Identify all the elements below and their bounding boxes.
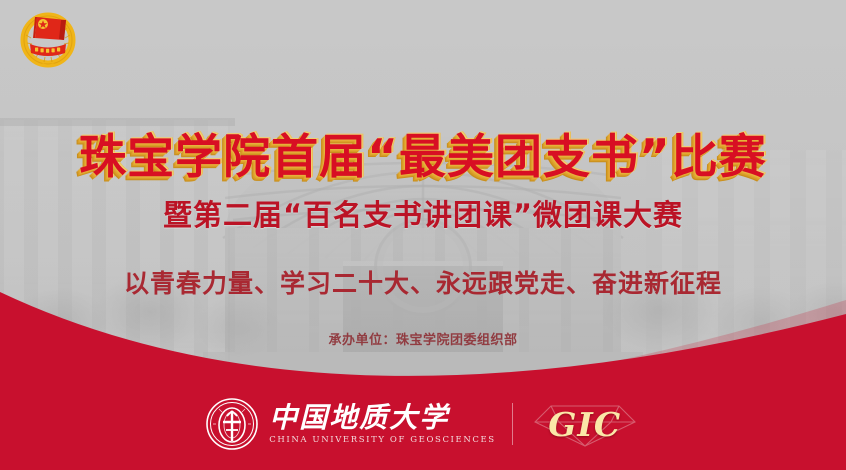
communist-youth-league-emblem-icon <box>17 7 79 69</box>
cug-seal-icon <box>205 397 259 451</box>
gic-wordmark: GIC <box>548 405 621 444</box>
page-title: 珠宝学院首届“最美团支书”比赛 <box>0 118 846 187</box>
slogan-text: 以青春力量、学习二十大、永远跟党走、奋进新征程 <box>0 264 846 300</box>
university-name-en: CHINA UNIVERSITY OF GEOSCIENCES <box>269 435 495 445</box>
poster-canvas: 珠宝学院首届“最美团支书”比赛 暨第二届“百名支书讲团课”微团课大赛 以青春力量… <box>0 0 846 470</box>
university-logo-block: 中国地质大学 CHINA UNIVERSITY OF GEOSCIENCES <box>205 397 495 451</box>
organizer-text: 承办单位：珠宝学院团委组织部 <box>0 329 846 348</box>
page-subtitle: 暨第二届“百名支书讲团课”微团课大赛 <box>0 192 846 234</box>
university-name-cn: 中国地质大学 <box>269 403 449 432</box>
footer-logo-lockup: 中国地质大学 CHINA UNIVERSITY OF GEOSCIENCES G… <box>0 396 846 452</box>
logo-divider <box>512 403 513 445</box>
university-wordmark: 中国地质大学 CHINA UNIVERSITY OF GEOSCIENCES <box>269 403 495 445</box>
gic-logo-block: GIC <box>529 396 641 452</box>
